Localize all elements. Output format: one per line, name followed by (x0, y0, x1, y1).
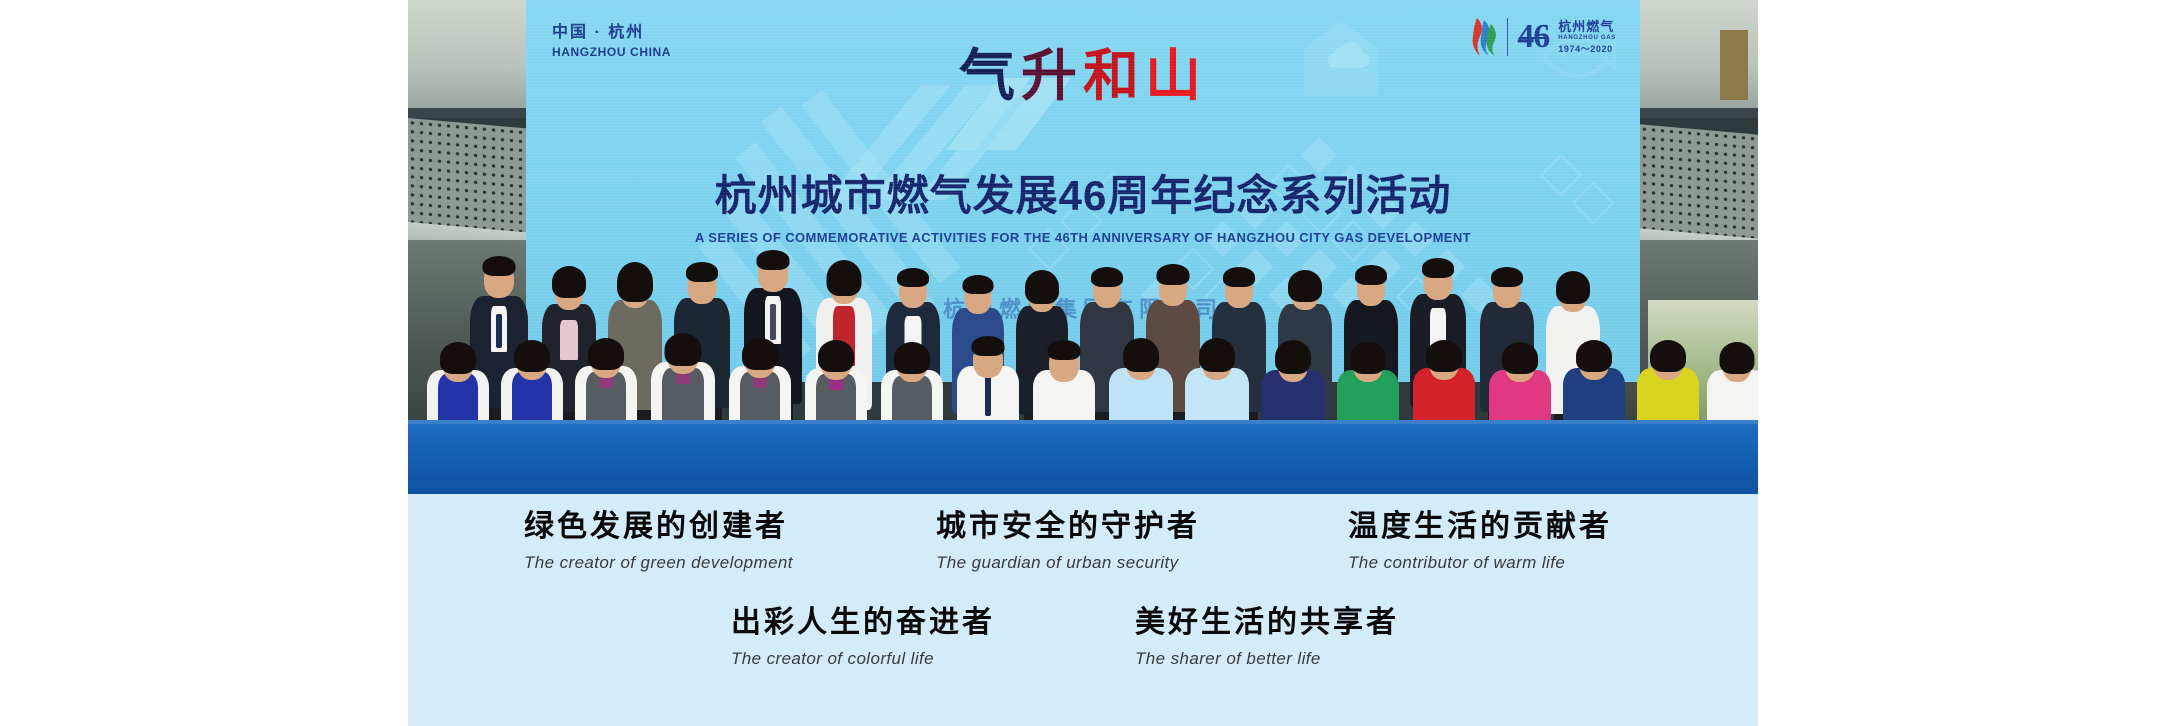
slogan-cn: 城市安全的守护者 (936, 508, 1236, 546)
slogan-warm-life: 温度生活的贡献者 The contributor of warm life (1348, 508, 1648, 575)
event-group-photo: 中国 · 杭州 HANGZHOU CHINA 46 (408, 0, 1758, 494)
slogan-row-first: 绿色发展的创建者 The creator of green developmen… (408, 508, 1758, 575)
slogan-green-development: 绿色发展的创建者 The creator of green developmen… (524, 508, 824, 575)
slogan-colorful-life: 出彩人生的奋进者 The creator of colorful life (731, 604, 1031, 671)
slogan-panel: 绿色发展的创建者 The creator of green developmen… (408, 494, 1758, 726)
group-of-people (408, 164, 1758, 494)
slogan-en: The contributor of warm life (1348, 550, 1648, 576)
content-column: 中国 · 杭州 HANGZHOU CHINA 46 (408, 0, 1758, 726)
page-root: 中国 · 杭州 HANGZHOU CHINA 46 (0, 0, 2179, 726)
slogan-cn: 绿色发展的创建者 (524, 508, 824, 546)
slogan-row-second: 出彩人生的奋进者 The creator of colorful life 美好… (408, 604, 1758, 671)
led-art-headline: 气升和山 (526, 48, 1640, 104)
slogan-cn: 美好生活的共享者 (1135, 604, 1435, 642)
slogan-en: The creator of green development (524, 550, 824, 576)
art-char-1: 气 (959, 44, 1021, 107)
brand-name-en: HANGZHOU GAS (1558, 35, 1616, 43)
slogan-en: The guardian of urban security (936, 550, 1236, 576)
slogan-better-life: 美好生活的共享者 The sharer of better life (1135, 604, 1435, 671)
brand-name-cn: 杭州燃气 (1558, 19, 1616, 35)
location-cn: 中国 · 杭州 (552, 22, 671, 44)
slogan-cn: 出彩人生的奋进者 (731, 604, 1031, 642)
slogan-en: The sharer of better life (1135, 646, 1435, 672)
slogan-en: The creator of colorful life (731, 646, 1031, 672)
blue-stage-carpet (408, 420, 1758, 494)
slogan-urban-security: 城市安全的守护者 The guardian of urban security (936, 508, 1236, 575)
art-char-4: 山 (1145, 44, 1207, 107)
wood-door-panel (1720, 30, 1748, 100)
slogan-cn: 温度生活的贡献者 (1348, 508, 1648, 546)
art-char-3: 和 (1083, 44, 1145, 107)
art-char-2: 升 (1021, 44, 1083, 107)
